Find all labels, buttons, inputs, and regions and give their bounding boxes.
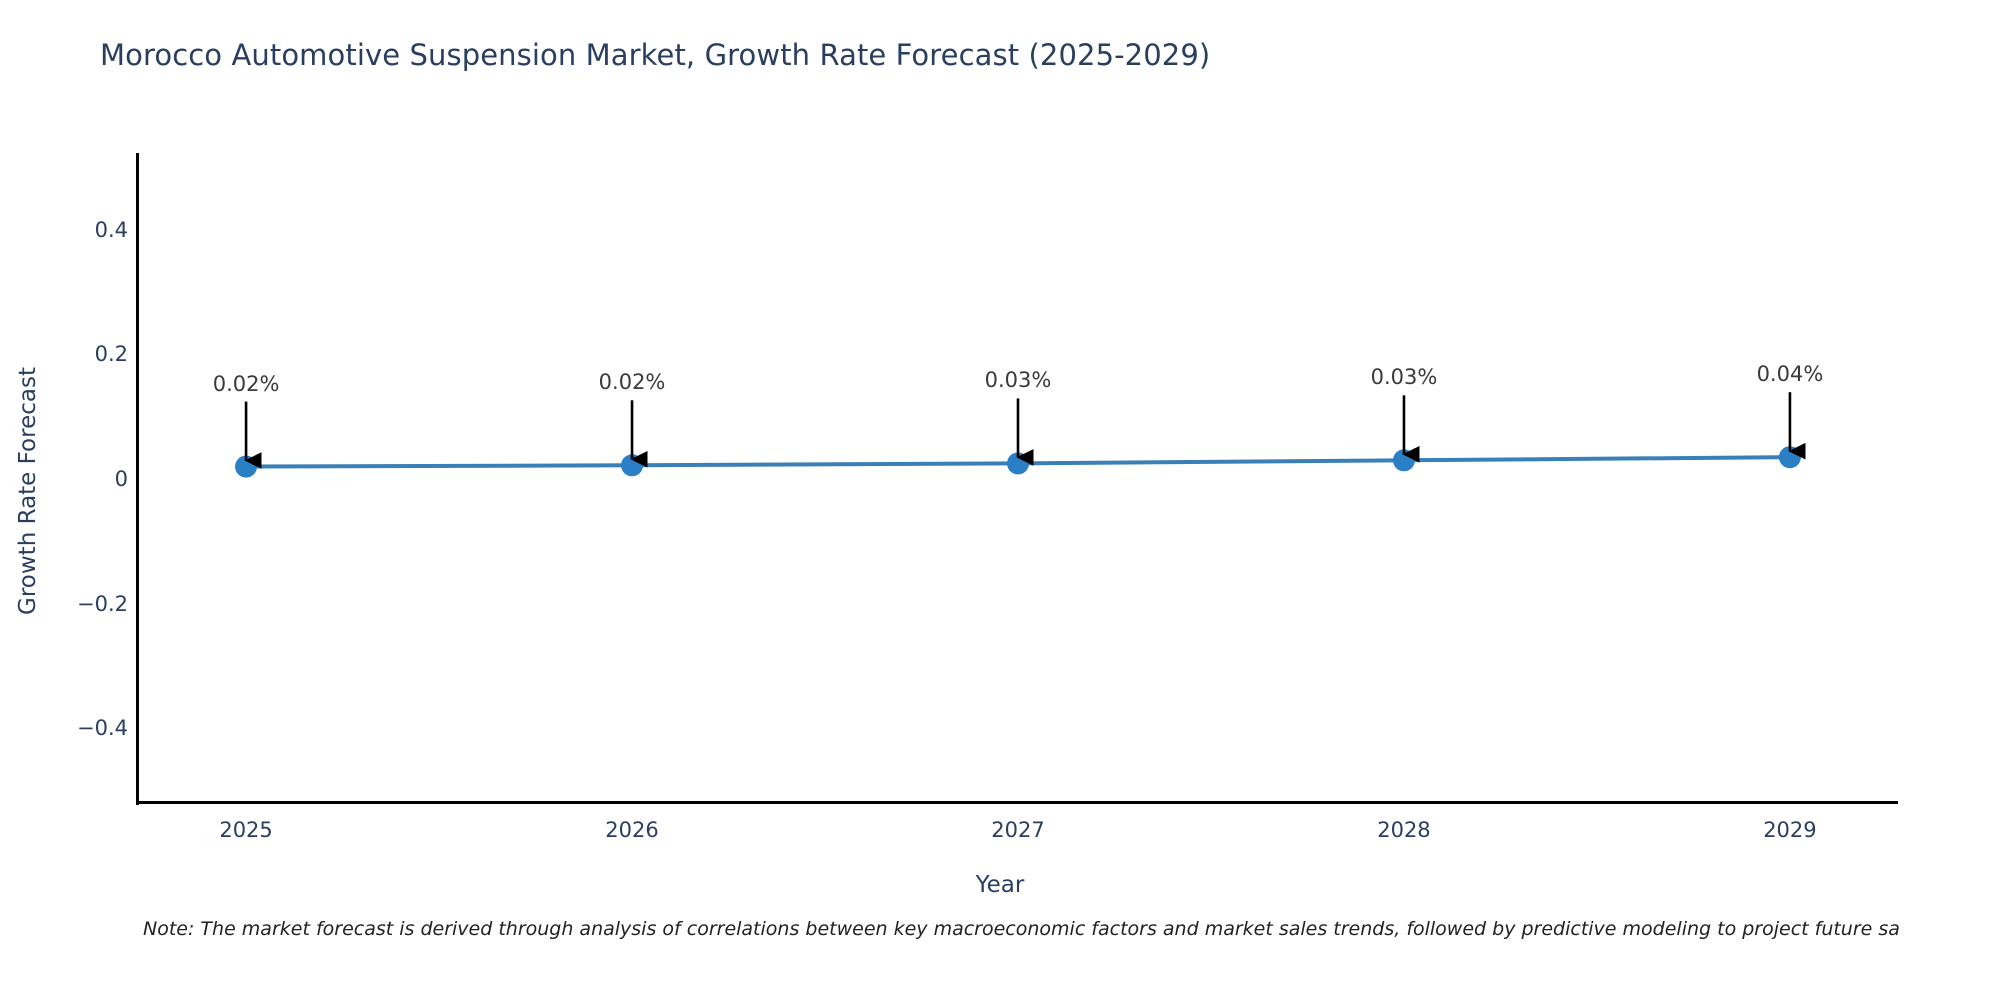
data-point-label: 0.03% (1371, 365, 1438, 389)
footnote-text: Note: The market forecast is derived thr… (143, 918, 1900, 940)
data-point-label: 0.03% (985, 368, 1052, 392)
data-point-label: 0.04% (1757, 362, 1824, 386)
chart-container: Morocco Automotive Suspension Market, Gr… (0, 0, 2000, 1000)
series-plot (0, 0, 2000, 1000)
annotation-arrows (246, 392, 1790, 460)
data-point-label: 0.02% (213, 372, 280, 396)
data-point-label: 0.02% (599, 370, 666, 394)
